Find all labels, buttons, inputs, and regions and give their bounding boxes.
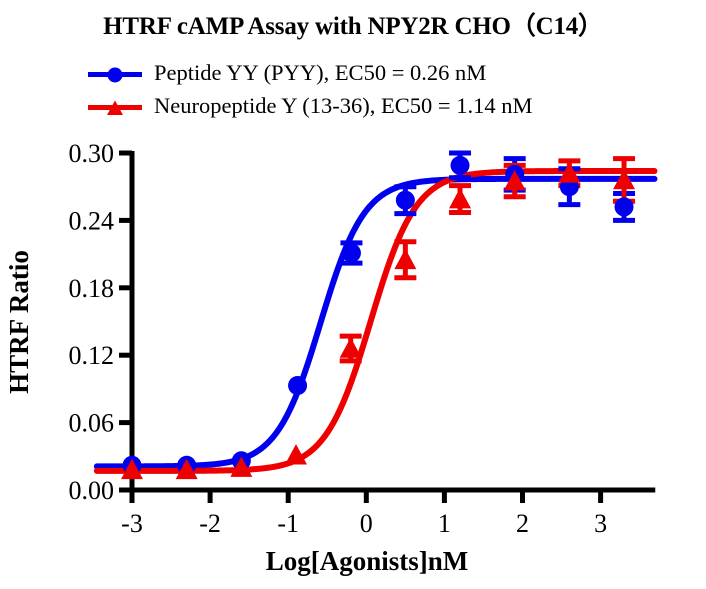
x-axis-title: Log[Agonists]nM xyxy=(266,546,469,576)
x-tick-label: 2 xyxy=(516,509,529,538)
x-tick-label: 0 xyxy=(360,509,373,538)
y-tick-label: 0.24 xyxy=(69,206,115,235)
error-bars xyxy=(340,153,635,361)
x-tick-label: 1 xyxy=(438,509,451,538)
y-tick-label: 0.18 xyxy=(69,274,115,303)
data-point-marker xyxy=(615,197,634,216)
data-point-marker xyxy=(288,376,307,395)
y-tick-label: 0.06 xyxy=(69,409,115,438)
y-tick-label: 0.00 xyxy=(69,476,115,505)
data-point-marker xyxy=(449,188,471,208)
plot-area: 0.000.060.120.180.240.30 -3-2-10123 Log[… xyxy=(0,0,706,589)
y-tick-label: 0.30 xyxy=(69,139,115,168)
x-tick-label: 3 xyxy=(594,509,607,538)
data-point-marker xyxy=(394,249,416,269)
y-axis-title: HTRF Ratio xyxy=(4,250,34,394)
y-axis: 0.000.060.120.180.240.30 xyxy=(69,139,133,505)
x-axis: -3-2-10123 xyxy=(121,490,655,538)
y-tick-label: 0.12 xyxy=(69,341,115,370)
data-point-marker xyxy=(340,337,362,357)
chart-figure: HTRF cAMP Assay with NPY2R CHO（C14） Pept… xyxy=(0,0,706,589)
data-point-marker xyxy=(396,191,415,210)
x-tick-label: -2 xyxy=(199,509,221,538)
data-point-marker xyxy=(342,243,361,262)
fit-curve xyxy=(97,179,655,467)
x-tick-label: -1 xyxy=(277,509,299,538)
x-tick-label: -3 xyxy=(121,509,143,538)
data-point-marker xyxy=(451,156,470,175)
fit-curves xyxy=(97,171,655,471)
data-markers xyxy=(121,156,635,479)
fit-curve xyxy=(97,171,655,471)
